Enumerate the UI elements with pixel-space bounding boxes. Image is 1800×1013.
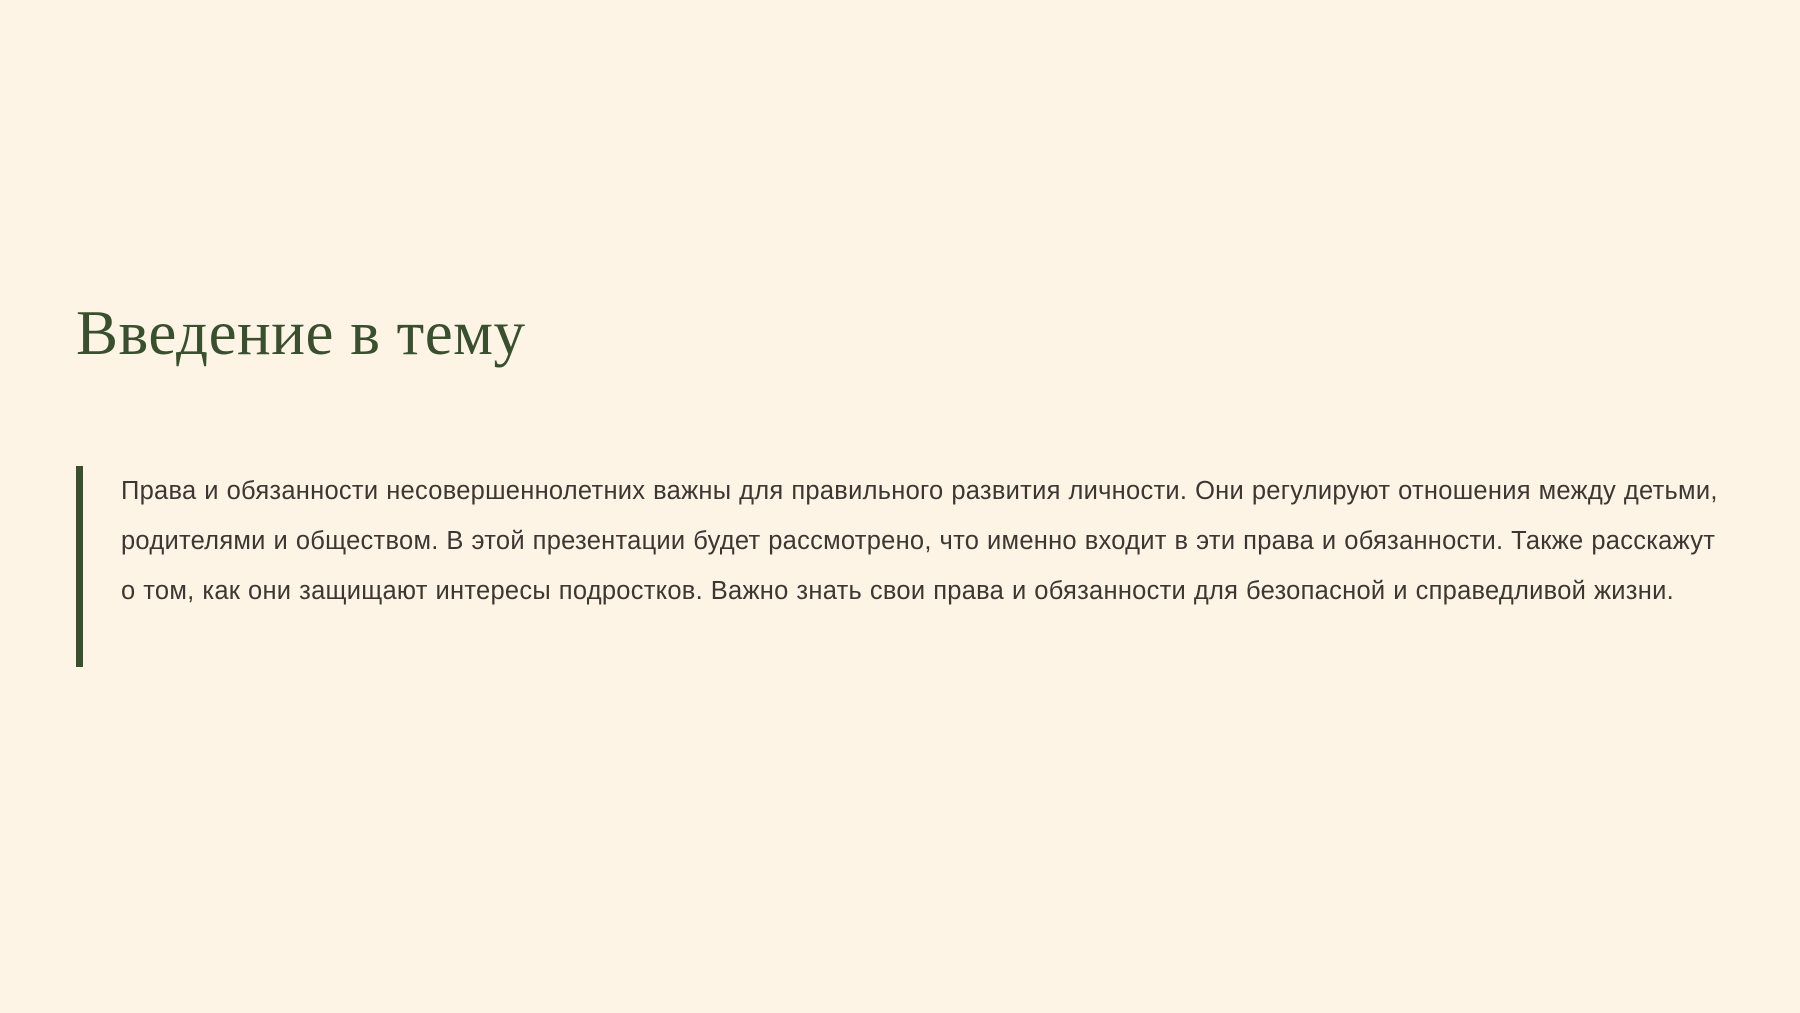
body-text-block: Права и обязанности несовершеннолетних в…	[76, 466, 1736, 667]
page-title: Введение в тему	[76, 298, 1576, 369]
body-paragraph: Права и обязанности несовершеннолетних в…	[83, 466, 1736, 667]
accent-bar	[76, 466, 83, 667]
presentation-slide: Введение в тему Права и обязанности несо…	[0, 0, 1800, 1013]
